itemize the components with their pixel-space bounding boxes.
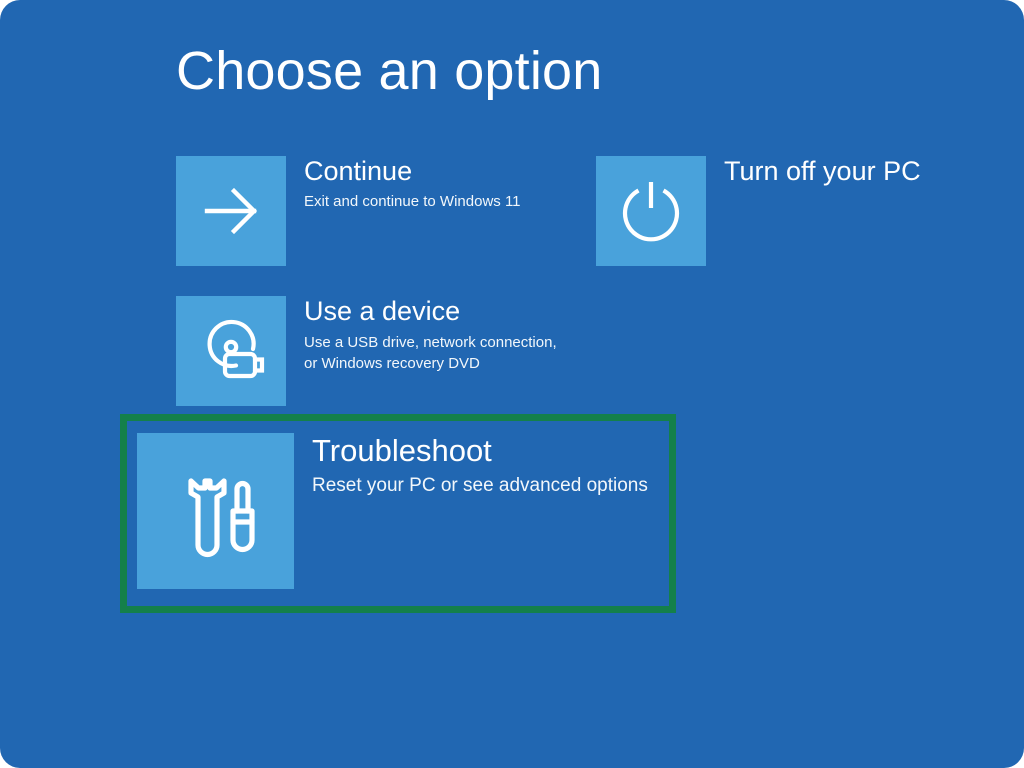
option-use-a-device-subtitle: Use a USB drive, network connection, or … xyxy=(304,332,557,374)
option-troubleshoot-text: Troubleshoot Reset your PC or see advanc… xyxy=(312,433,648,498)
option-continue[interactable]: Continue Exit and continue to Windows 11 xyxy=(176,156,521,266)
option-continue-subtitle: Exit and continue to Windows 11 xyxy=(304,192,521,212)
option-use-a-device-title: Use a device xyxy=(304,296,557,326)
recovery-environment-screen: Choose an option Continue Exit and conti… xyxy=(0,0,1024,768)
option-use-a-device-text: Use a device Use a USB drive, network co… xyxy=(304,296,557,374)
option-troubleshoot-title: Troubleshoot xyxy=(312,433,648,469)
option-use-a-device[interactable]: Use a device Use a USB drive, network co… xyxy=(176,296,557,406)
option-continue-icon-tile xyxy=(176,156,286,266)
arrow-right-icon xyxy=(196,176,266,246)
option-use-a-device-icon-tile xyxy=(176,296,286,406)
option-turn-off-your-pc-text: Turn off your PC xyxy=(724,156,921,186)
power-icon xyxy=(613,173,689,249)
disc-usb-icon xyxy=(192,312,270,390)
option-troubleshoot-subtitle: Reset your PC or see advanced options xyxy=(312,474,648,498)
option-troubleshoot-icon-tile xyxy=(137,433,294,589)
option-continue-title: Continue xyxy=(304,156,521,186)
option-turn-off-your-pc-icon-tile xyxy=(596,156,706,266)
wrench-screwdriver-icon xyxy=(164,459,268,563)
option-troubleshoot[interactable]: Troubleshoot Reset your PC or see advanc… xyxy=(137,433,648,589)
option-continue-text: Continue Exit and continue to Windows 11 xyxy=(304,156,521,212)
page-title: Choose an option xyxy=(176,42,603,101)
option-turn-off-your-pc[interactable]: Turn off your PC xyxy=(596,156,921,266)
option-turn-off-your-pc-title: Turn off your PC xyxy=(724,156,921,186)
